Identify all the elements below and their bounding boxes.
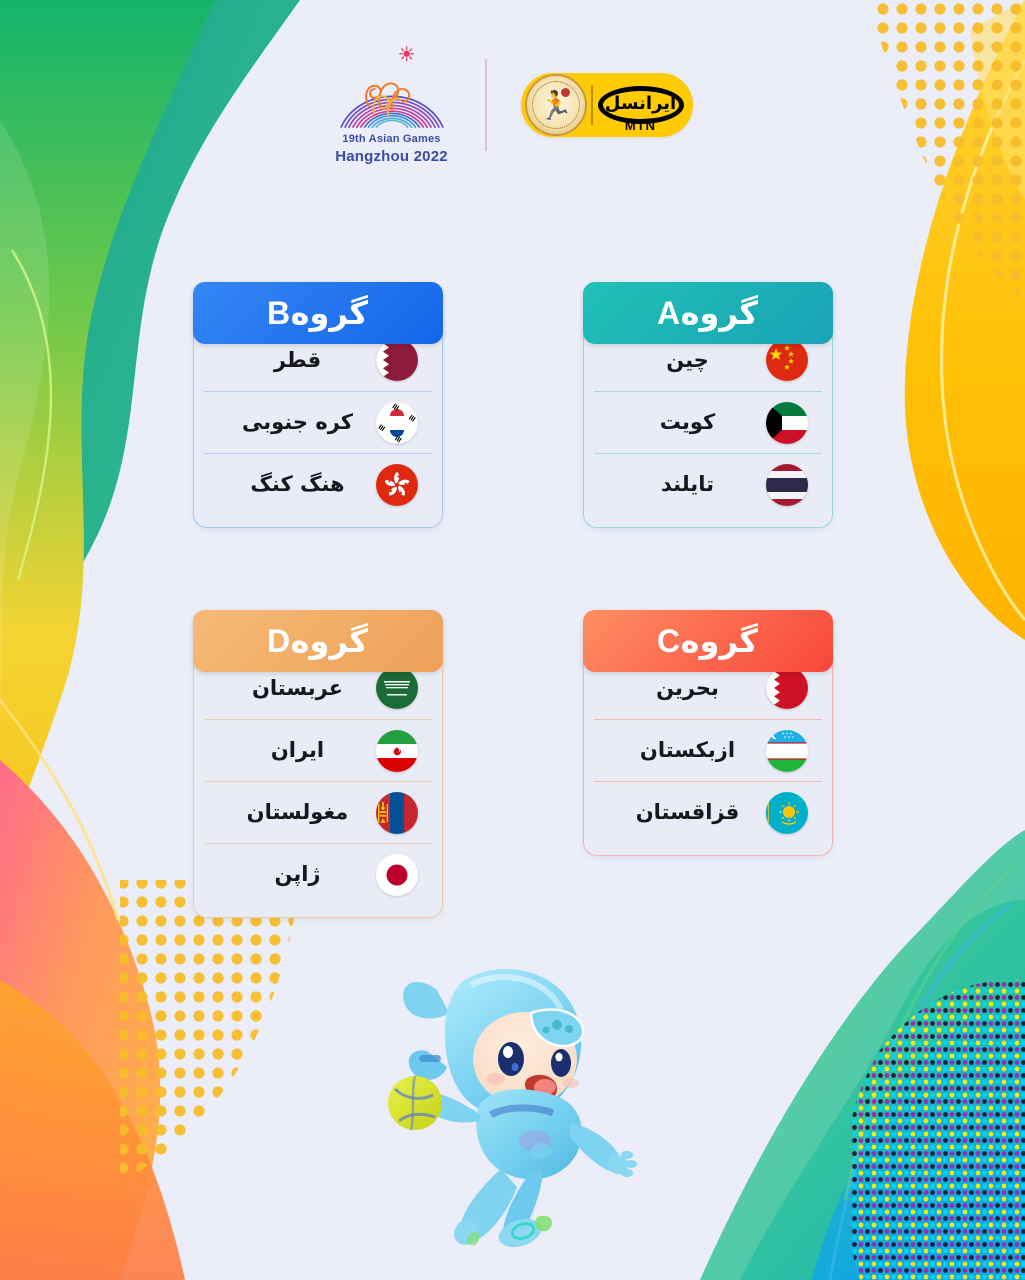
mtn-wordmark: MTN [625,118,656,133]
team-row[interactable]: هنگ کنگ [204,453,432,515]
team-name: هنگ کنگ [214,474,376,495]
team-name: مغولستان [214,802,376,823]
team-name: ایران [214,740,376,761]
kuwait-flag [766,402,808,444]
group-c-header: گروه C [583,610,833,672]
irancell-name-fa: ایرانسل [605,95,676,113]
team-name: کره جنوبی [214,412,376,433]
group-card-c[interactable]: گروه C بحرین [583,610,833,856]
header-logos: ایرانسل MTN 🏃 [0,0,1025,210]
iran-handball-federation-emblem: 🏃 [525,74,587,136]
team-name: بحرین [604,678,766,699]
team-row[interactable]: ایران [204,719,432,781]
hong-kong-flag [376,464,418,506]
groups-grid: گروه A چ [0,282,1025,918]
team-name: قزاقستان [604,802,766,823]
asian-games-logo: 19th Asian Games Hangzhou 2022 [333,45,451,165]
group-card-a[interactable]: گروه A چ [583,282,833,528]
group-d-title: گروه [291,625,368,657]
group-d-header: گروه D [193,610,443,672]
group-d-letter: D [267,625,291,657]
asian-games-edition-label: 19th Asian Games [342,133,440,145]
japan-flag [376,854,418,896]
group-b-title: گروه [291,297,368,329]
bahrain-flag [766,667,808,709]
team-name: چین [604,350,766,371]
china-flag [766,339,808,381]
kazakhstan-flag [766,792,808,834]
team-name: ازبکستان [604,740,766,761]
group-b-letter: B [267,297,291,329]
emblem-ring [532,81,580,129]
saudi-arabia-flag [376,667,418,709]
thailand-flag [766,464,808,506]
group-c-title: گروه [681,625,758,657]
handball-ball-icon [561,88,570,97]
group-b-header: گروه B [193,282,443,344]
irancell-wordmark: ایرانسل MTN [593,73,689,137]
group-card-b[interactable]: گروه B قطر [193,282,443,528]
team-name: عربستان [214,678,376,699]
iran-flag [376,730,418,772]
team-row[interactable]: کره جنوبی [204,391,432,453]
congcong-mascot [375,955,665,1255]
team-row[interactable]: ازبکستان [594,719,822,781]
group-a-header: گروه A [583,282,833,344]
team-name: کویت [604,412,766,433]
team-name: تایلند [604,474,766,495]
group-a-letter: A [657,297,681,329]
qatar-flag [376,339,418,381]
team-name: ژاپن [214,864,376,885]
south-korea-flag [376,402,418,444]
group-card-d[interactable]: گروه D عربستان [193,610,443,918]
uzbekistan-flag [766,730,808,772]
logo-separator [591,85,593,125]
asian-games-fan-icon [333,45,451,131]
team-row[interactable]: قزاقستان [594,781,822,843]
team-row[interactable]: ژاپن [204,843,432,905]
team-row[interactable]: تایلند [594,453,822,515]
group-c-letter: C [657,625,681,657]
group-a-title: گروه [681,297,758,329]
group-column-1: گروه A چ [583,282,833,918]
asian-games-host-label: Hangzhou 2022 [335,148,448,165]
irancell-sponsor-logo: ایرانسل MTN 🏃 [521,73,693,137]
group-column-2: گروه B قطر [193,282,443,918]
header-divider [485,59,487,151]
team-row[interactable]: کویت [594,391,822,453]
team-name: قطر [214,350,376,371]
mongolia-flag [376,792,418,834]
team-row[interactable]: مغولستان [204,781,432,843]
